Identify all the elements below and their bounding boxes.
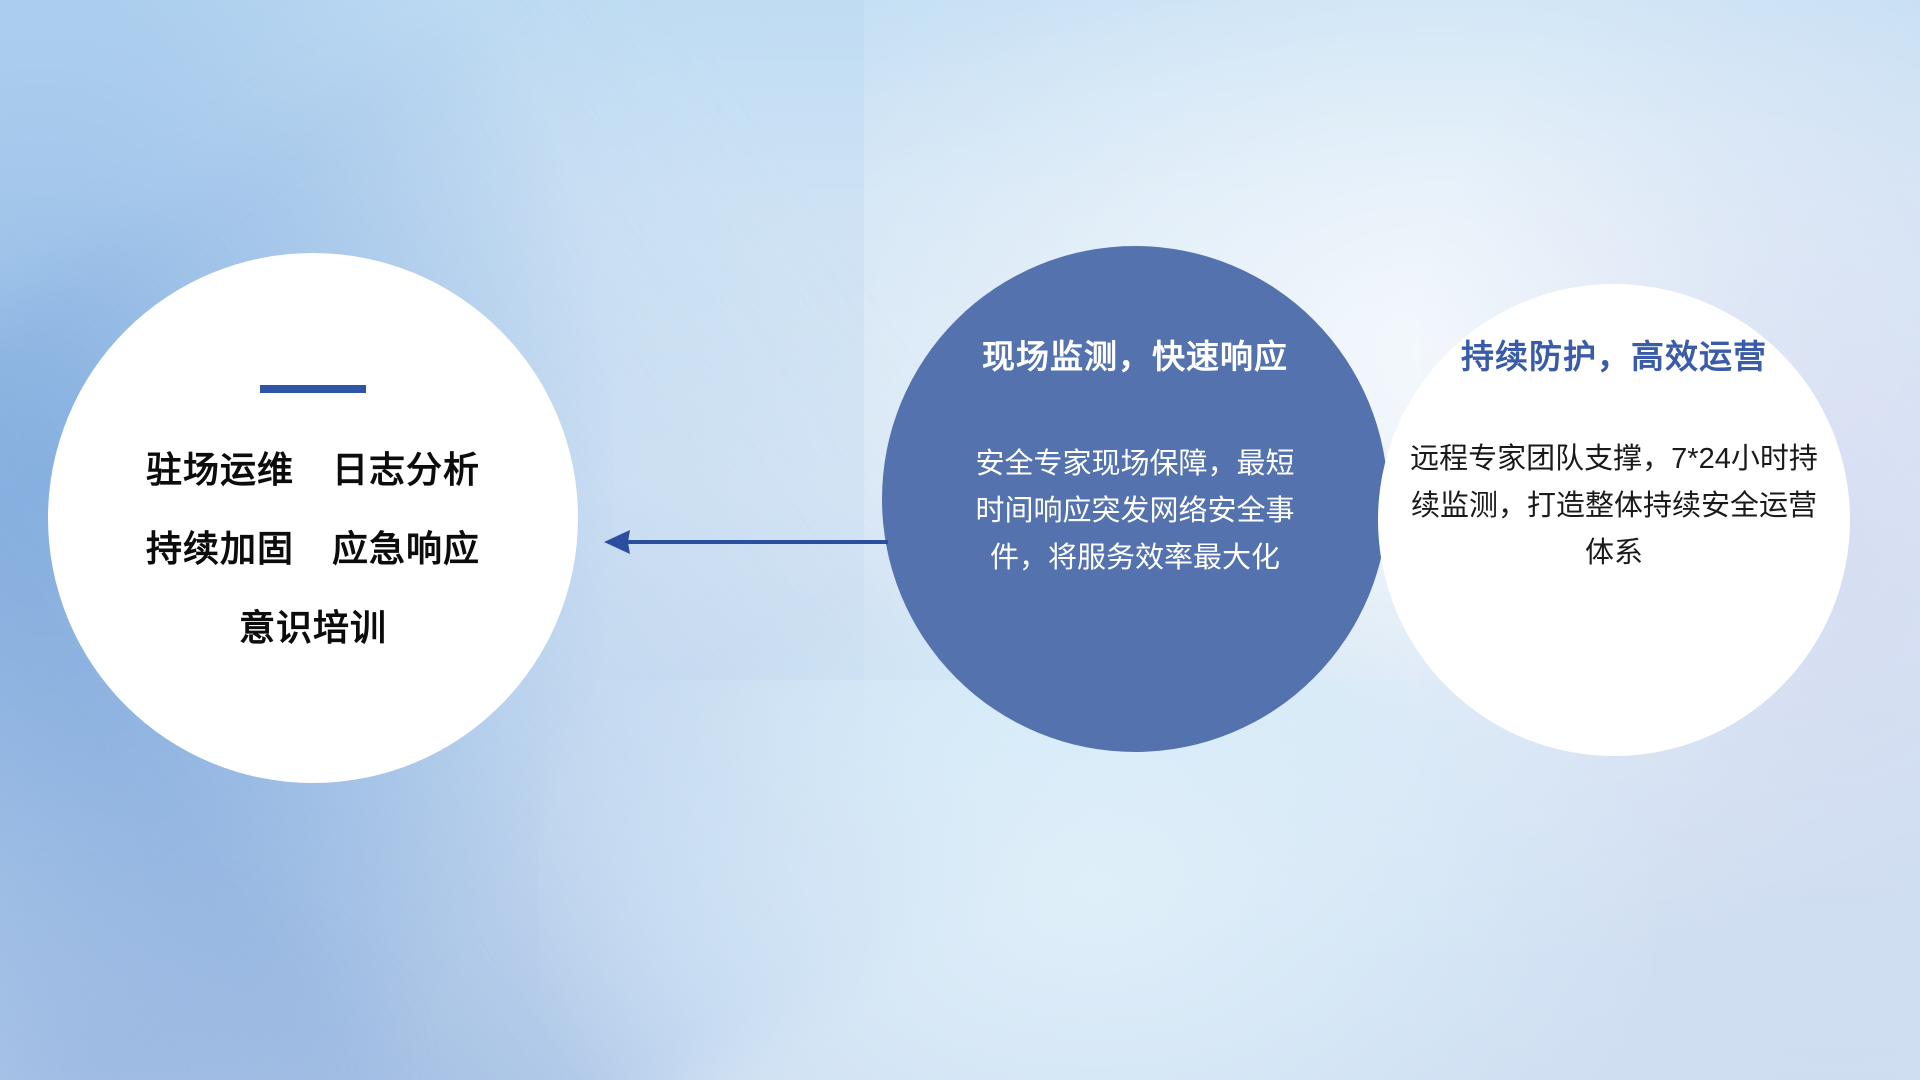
onsite-monitoring-title: 现场监测，快速响应 — [982, 330, 1288, 378]
keyword-item[interactable]: 日志分析 — [332, 441, 480, 493]
keyword-item[interactable]: 持续加固 — [146, 520, 294, 572]
keyword-item[interactable]: 应急响应 — [332, 520, 480, 572]
slide-canvas: 驻场运维 日志分析 持续加固 应急响应 意识培训 现场监测，快速响应 安全专家现… — [0, 0, 1920, 1080]
divider-dash — [260, 385, 366, 393]
background-corner-bottom-left — [0, 864, 422, 1080]
keyword-item[interactable]: 驻场运维 — [146, 441, 294, 493]
keyword-row: 持续加固 应急响应 — [146, 520, 480, 572]
keyword-list: 驻场运维 日志分析 持续加固 应急响应 意识培训 — [146, 441, 480, 651]
arrow-left-icon — [600, 528, 890, 556]
keywords-circle[interactable]: 驻场运维 日志分析 持续加固 应急响应 意识培训 — [48, 253, 578, 783]
onsite-monitoring-circle[interactable]: 现场监测，快速响应 安全专家现场保障，最短时间响应突发网络安全事件，将服务效率最… — [882, 246, 1388, 752]
keyword-row: 驻场运维 日志分析 — [146, 441, 480, 493]
keyword-item[interactable]: 意识培训 — [239, 599, 387, 651]
onsite-monitoring-body: 安全专家现场保障，最短时间响应突发网络安全事件，将服务效率最大化 — [970, 441, 1300, 582]
continuous-protection-body: 远程专家团队支撑，7*24小时持续监测，打造整体持续安全运营体系 — [1409, 436, 1819, 577]
keyword-row: 意识培训 — [239, 599, 387, 651]
continuous-protection-circle[interactable]: 持续防护，高效运营 远程专家团队支撑，7*24小时持续监测，打造整体持续安全运营… — [1378, 284, 1850, 756]
continuous-protection-title: 持续防护，高效运营 — [1461, 330, 1767, 378]
